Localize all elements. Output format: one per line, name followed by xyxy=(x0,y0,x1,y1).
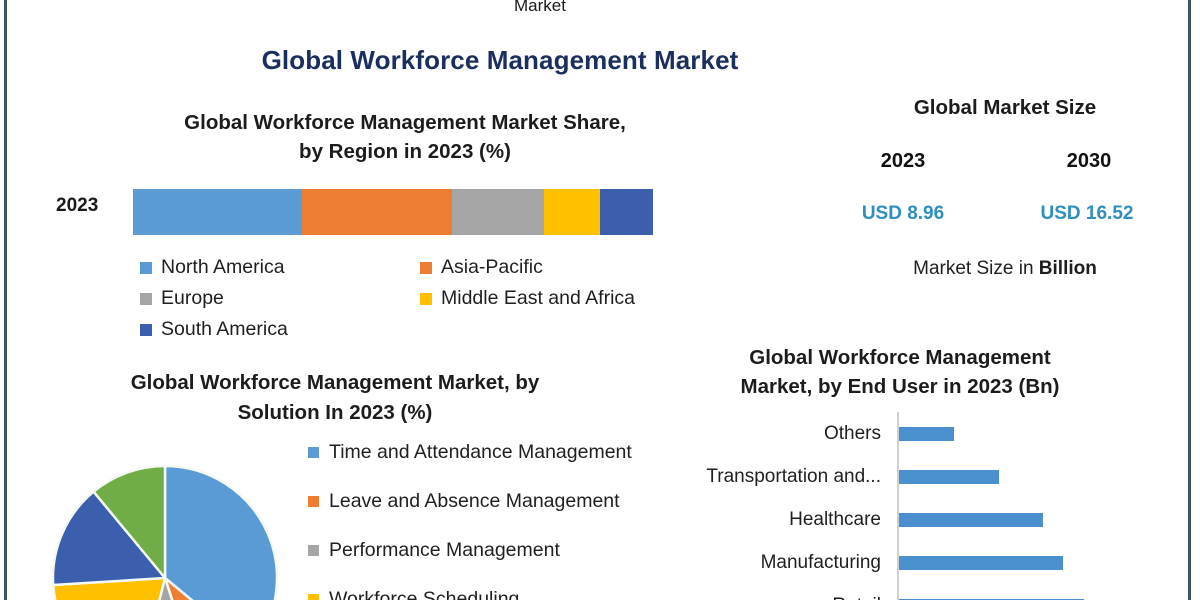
end-user-bar xyxy=(899,556,1063,570)
solution-share-title-line2: Solution In 2023 (%) xyxy=(30,398,640,428)
region-share-title-line1: Global Workforce Management Market Share… xyxy=(80,108,730,137)
solution-share-title-line1: Global Workforce Management Market, by xyxy=(30,368,640,398)
solution-legend-label: Leave and Absence Management xyxy=(329,490,620,513)
region-legend-item: North America xyxy=(140,252,420,283)
region-legend-item: South America xyxy=(140,314,420,345)
solution-legend-label: Time and Attendance Management xyxy=(329,441,632,464)
legend-swatch-icon xyxy=(308,545,319,556)
market-size-year-2023: 2023 xyxy=(848,150,958,173)
market-size-unit-prefix: Market Size in xyxy=(913,258,1039,279)
end-user-bar-row: Others xyxy=(690,412,1110,455)
solution-legend-label: Performance Management xyxy=(329,539,560,562)
end-user-bar-chart: OthersTransportation and...HealthcareMan… xyxy=(690,412,1110,600)
region-share-stacked-bar xyxy=(133,189,653,235)
region-share-chart-title: Global Workforce Management Market Share… xyxy=(80,108,730,166)
pie-slice xyxy=(165,466,277,600)
region-share-segment xyxy=(544,189,600,235)
region-share-category-label: 2023 xyxy=(56,195,98,217)
region-share-segment xyxy=(133,189,302,235)
infographic-canvas: Market 2024-2030 Global Workforce Manage… xyxy=(0,0,1200,600)
end-user-bar xyxy=(899,427,954,441)
region-legend-label: Europe xyxy=(161,287,224,310)
page-title: Global Workforce Management Market xyxy=(0,45,1000,76)
end-user-category-label: Retail xyxy=(690,595,890,600)
solution-legend-label: Workforce Scheduling xyxy=(329,588,519,600)
end-user-category-label: Others xyxy=(690,423,890,445)
end-user-bar xyxy=(899,470,999,484)
legend-swatch-icon xyxy=(420,262,432,274)
region-legend-label: Asia-Pacific xyxy=(441,256,543,279)
end-user-chart-title: Global Workforce Management Market, by E… xyxy=(690,343,1110,401)
frame-border-left xyxy=(4,0,7,600)
region-share-title-line2: by Region in 2023 (%) xyxy=(80,137,730,166)
region-legend-item: Asia-Pacific xyxy=(420,252,700,283)
region-share-segment xyxy=(302,189,452,235)
legend-swatch-icon xyxy=(140,293,152,305)
end-user-category-label: Healthcare xyxy=(690,509,890,531)
market-size-unit-value: Billion xyxy=(1039,258,1097,279)
end-user-bar-row: Manufacturing xyxy=(690,541,1110,584)
top-partial-text-left: Market xyxy=(420,0,660,16)
legend-swatch-icon xyxy=(308,594,319,600)
region-legend-label: North America xyxy=(161,256,285,279)
solution-legend-item: Workforce Scheduling xyxy=(308,575,698,600)
legend-swatch-icon xyxy=(308,496,319,507)
market-size-title: Global Market Size xyxy=(860,96,1150,120)
region-legend-label: Middle East and Africa xyxy=(441,287,635,310)
legend-swatch-icon xyxy=(420,293,432,305)
end-user-category-label: Manufacturing xyxy=(690,552,890,574)
region-share-segment xyxy=(600,189,653,235)
end-user-bar-row: Retail xyxy=(690,584,1110,600)
solution-legend-item: Leave and Absence Management xyxy=(308,477,698,526)
market-size-unit-note: Market Size in Billion xyxy=(845,258,1165,280)
end-user-title-line1: Global Workforce Management xyxy=(690,343,1110,372)
legend-swatch-icon xyxy=(140,324,152,336)
market-size-value-2030: USD 16.52 xyxy=(1022,203,1152,225)
solution-share-legend: Time and Attendance ManagementLeave and … xyxy=(308,428,698,600)
frame-border-right xyxy=(1188,0,1191,600)
solution-share-chart-title: Global Workforce Management Market, by S… xyxy=(30,368,640,428)
end-user-bar-row: Healthcare xyxy=(690,498,1110,541)
legend-swatch-icon xyxy=(308,447,319,458)
end-user-category-label: Transportation and... xyxy=(690,466,890,488)
end-user-title-line2: Market, by End User in 2023 (Bn) xyxy=(690,372,1110,401)
region-share-segment xyxy=(452,189,544,235)
solution-legend-item: Time and Attendance Management xyxy=(308,428,698,477)
region-legend-item: Middle East and Africa xyxy=(420,283,700,314)
solution-share-pie-chart xyxy=(20,430,310,600)
end-user-bar-row: Transportation and... xyxy=(690,455,1110,498)
region-share-legend: North AmericaAsia-PacificEuropeMiddle Ea… xyxy=(140,252,700,345)
end-user-bar xyxy=(899,513,1043,527)
solution-legend-item: Performance Management xyxy=(308,526,698,575)
market-size-year-2030: 2030 xyxy=(1034,150,1144,173)
top-partial-text-right: 2024-2030 xyxy=(880,0,1120,1)
legend-swatch-icon xyxy=(140,262,152,274)
market-size-value-2023: USD 8.96 xyxy=(838,203,968,225)
region-legend-label: South America xyxy=(161,318,288,341)
region-legend-item: Europe xyxy=(140,283,420,314)
